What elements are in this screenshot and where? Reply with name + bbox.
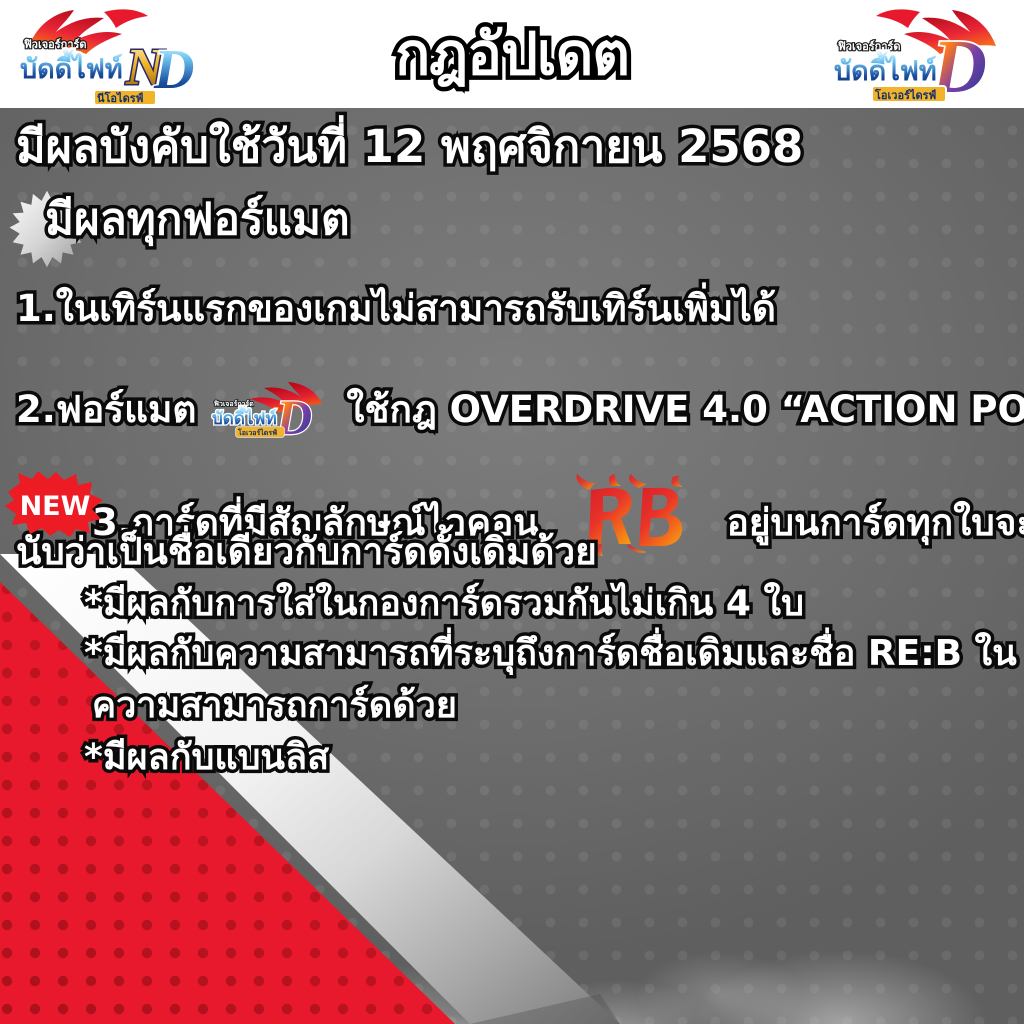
logo-line2: บัดดี้ไฟท์ [20, 48, 123, 85]
rules-update-poster: กฎอัปเดต [0, 0, 1024, 1024]
svg-text:ฟิวเจอร์การ์ด: ฟิวเจอร์การ์ด [213, 399, 254, 408]
buddyfight-neo-drive-logo: ฟิวเจอร์การ์ด บัดดี้ไฟท์ N D นีโอไดรฟ์ [8, 6, 204, 108]
rule-2-row: 2.ฟอร์แมต [16, 380, 1024, 440]
subtitle-all-formats: มีผลทุกฟอร์แมต [45, 198, 350, 243]
logo-line3: นีโอไดรฟ์ [97, 91, 144, 105]
logo-line3: โอเวอร์ไดรฟ์ [874, 88, 937, 102]
svg-text:โอเวอร์ไดรฟ์: โอเวอร์ไดรฟ์ [237, 428, 277, 437]
rule-3-line-2: นับว่าเป็นชื่อเดียวกับการ์ดดั้งเดิมด้วย [16, 533, 597, 571]
logo-line1: ฟิวเจอร์การ์ด [24, 38, 87, 51]
logo-mark-2: D [153, 39, 194, 101]
new-badge: NEW [4, 470, 106, 538]
buddyfight-overdrive-logo: D ฟิวเจอร์การ์ด บัดดี้ไฟท์ โอเวอร์ไดรฟ์ [824, 6, 1020, 108]
rule-3-text-after: อยู่บนการ์ดทุกใบจะถูก [727, 504, 1024, 542]
rule-3-sub-2-continued: ความสามารถการ์ดด้วย [92, 688, 457, 725]
rule-3-sub-3: *มีผลกับแบนลิส [84, 740, 329, 777]
page-title: กฎอัปเดต [395, 25, 629, 83]
rule-3-sub-2: *มีผลกับความสามารถที่ระบุถึงการ์ดชื่อเดิ… [84, 636, 1017, 673]
logo-line2: บัดดี้ไฟท์ [834, 50, 937, 87]
svg-text:บัดดี้ไฟท์: บัดดี้ไฟท์ [212, 405, 277, 429]
corner-decoration [0, 554, 620, 1024]
rule-3-sub-1: *มีผลกับการใส่ในกองการ์ดรวมกันไม่เกิน 4 … [84, 586, 804, 623]
new-badge-label: NEW [20, 491, 91, 522]
rule-2-text-after: ใช้กฎ OVERDRIVE 4.0 “ACTION POINT” [346, 391, 1024, 429]
effective-date-line: มีผลบังคับใช้วันที่ 12 พฤศจิกายน 2568 [16, 124, 803, 170]
logo-line1: ฟิวเจอร์การ์ด [838, 40, 901, 53]
rule-2-text-before: 2.ฟอร์แมต [16, 391, 196, 429]
overdrive-inline-logo-icon: D ฟิวเจอร์การ์ด บัดดี้ไฟท์ โอเวอร์ไดรฟ์ [206, 382, 336, 442]
rule-1-text: 1.ในเทิร์นแรกของเกมไม่สามารถรับเทิร์นเพิ… [16, 290, 776, 328]
